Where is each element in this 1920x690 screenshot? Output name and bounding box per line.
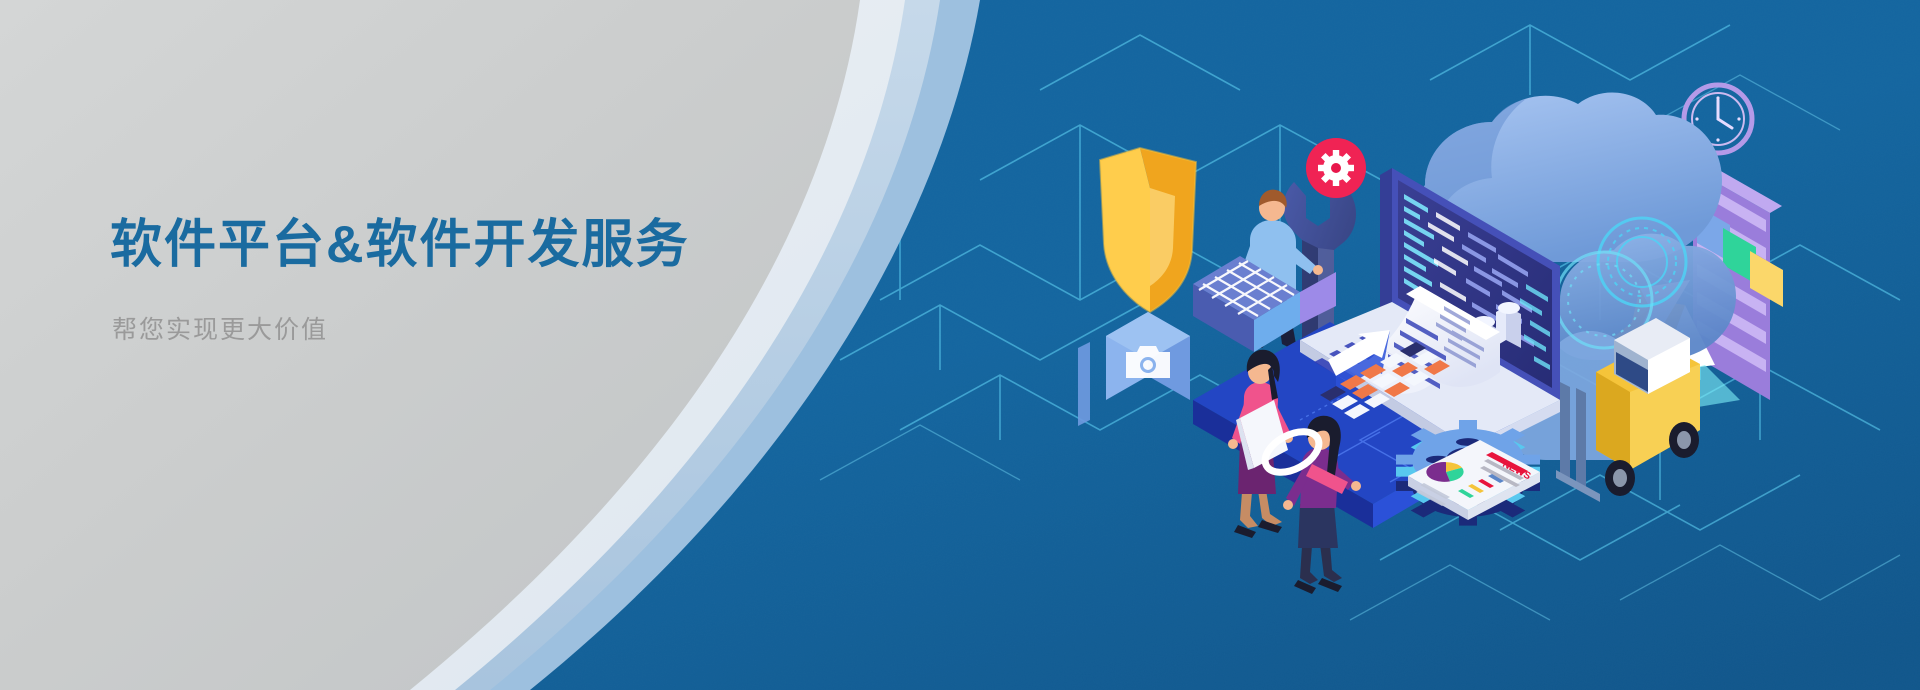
pie-chart-icon (1426, 462, 1463, 482)
hero-banner: NEWS (0, 0, 1920, 690)
page-title: 软件平台&软件开发服务 (110, 216, 690, 276)
gear-badge-icon (1306, 138, 1366, 198)
left-card (1078, 342, 1090, 426)
hero-text-block: 软件平台&软件开发服务 帮您实现更大价值 (0, 0, 900, 690)
page-subtitle: 帮您实现更大价值 (112, 310, 328, 346)
